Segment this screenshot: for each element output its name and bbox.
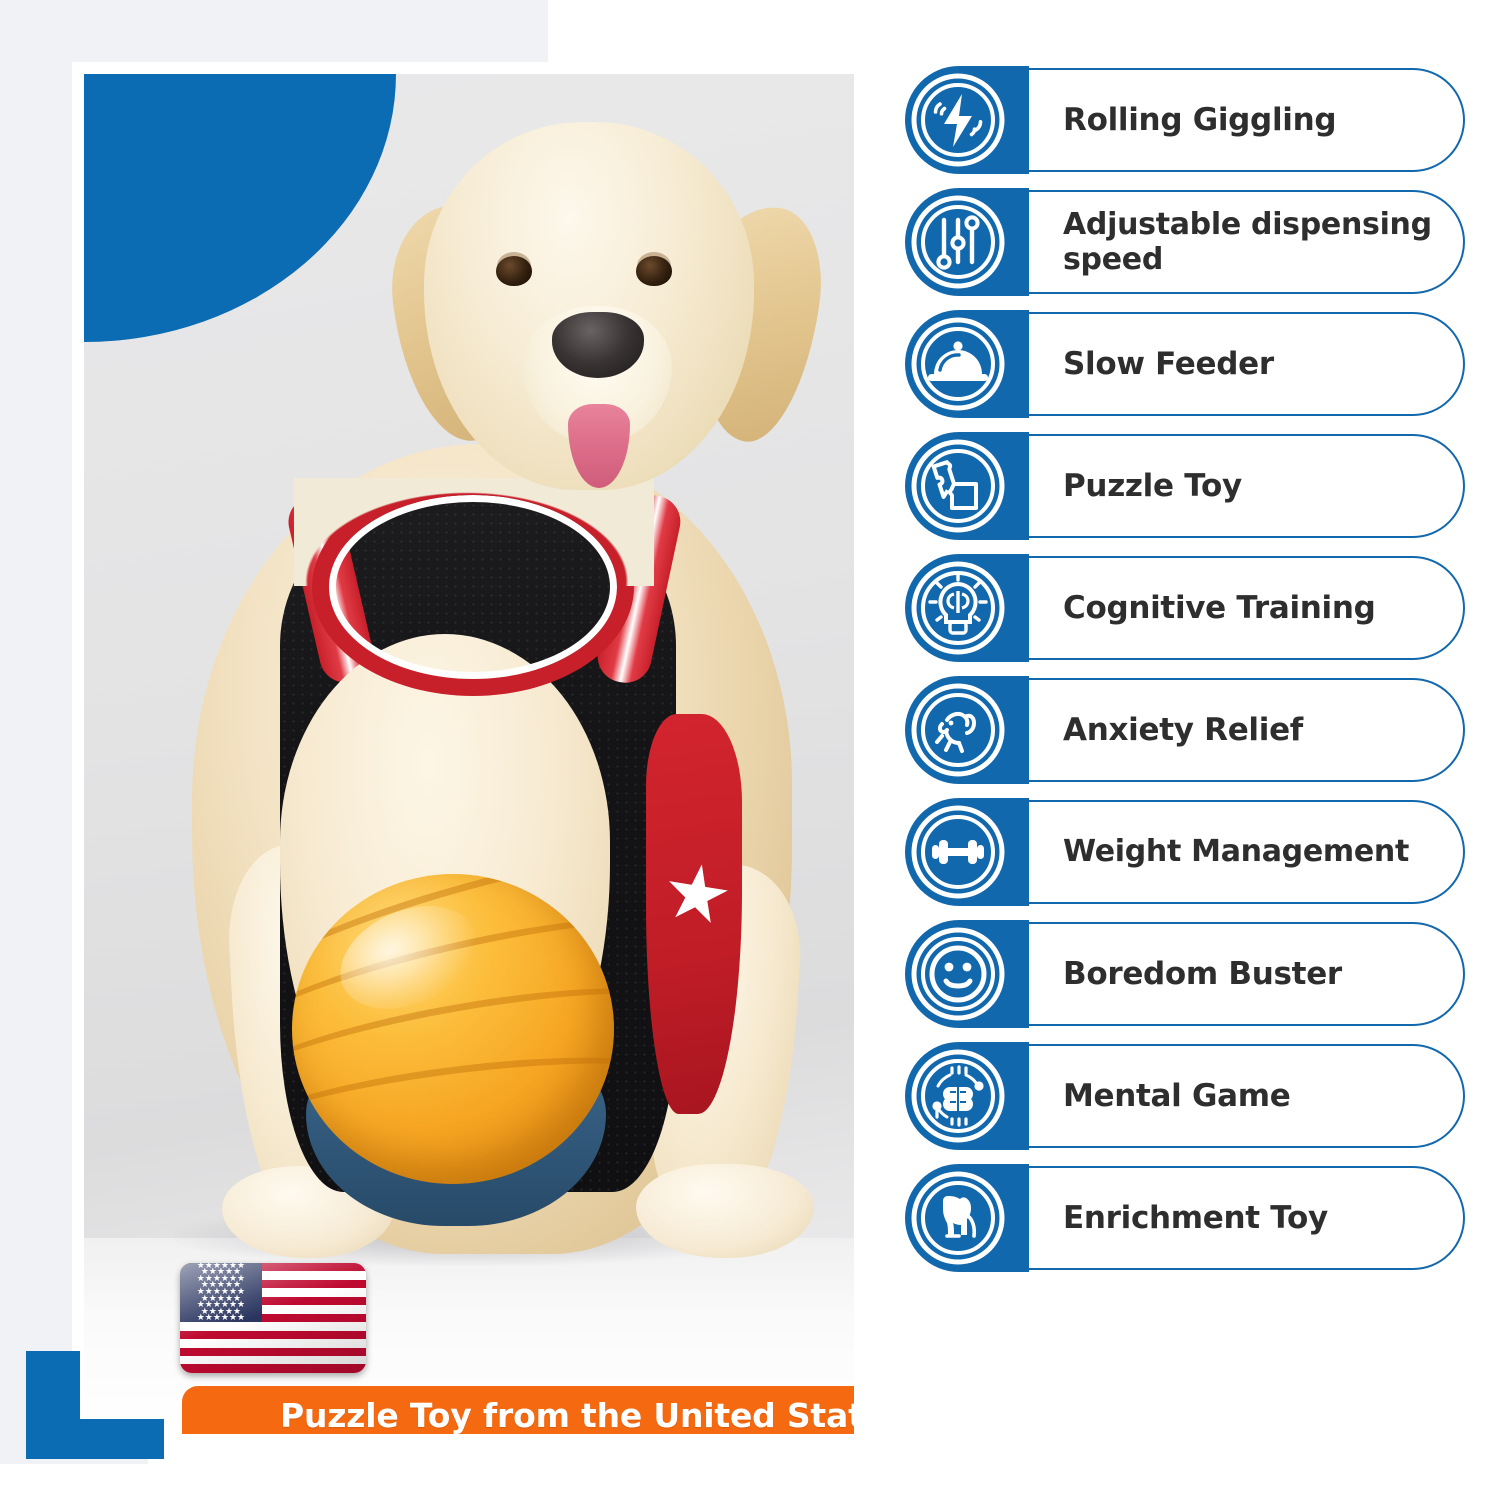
us-flag-badge: ★★★★★★★★★★★ ★★★★★★★★★★★ ★★★★★★★★★★★ ★★★★… [180,1263,366,1373]
feature-icon-badge [905,66,1029,174]
dog-illustration [84,74,854,1434]
us-patent-banner-text: Puzzle Toy from the United States, an Am… [280,1398,854,1434]
running-dog-icon [906,678,1010,782]
brain-network-icon [906,1044,1010,1148]
blue-corner-horizontal [26,1419,164,1459]
feature-row-adjustable-dispensing-speed[interactable]: Adjustable dispensing speed [905,188,1465,296]
blue-corner-accent [26,1351,164,1459]
feature-label: Adjustable dispensing speed [1029,188,1465,296]
food-cloche-icon [906,312,1010,416]
feature-label: Enrichment Toy [1029,1164,1465,1272]
sliders-icon [906,190,1010,294]
treat-ball-orange-shell [292,874,614,1184]
feature-label: Boredom Buster [1029,920,1465,1028]
sitting-dog-icon [906,1166,1010,1270]
feature-row-weight-management[interactable]: Weight Management [905,798,1465,906]
feature-label: Slow Feeder [1029,310,1465,418]
feature-label: Anxiety Relief [1029,676,1465,784]
feature-icon-badge [905,1042,1029,1150]
feature-icon-badge [905,676,1029,784]
feature-row-mental-game[interactable]: Mental Game [905,1042,1465,1150]
jersey-collar-fill [294,478,654,586]
dumbbell-icon [906,800,1010,904]
product-photo: ★★★★★★★★★★★ ★★★★★★★★★★★ ★★★★★★★★★★★ ★★★★… [84,74,854,1434]
us-patent-banner: Puzzle Toy from the United States, an Am… [182,1386,854,1434]
feature-row-boredom-buster[interactable]: Boredom Buster [905,920,1465,1028]
feature-icon-badge [905,310,1029,418]
feature-label: Cognitive Training [1029,554,1465,662]
feature-icon-badge [905,798,1029,906]
treat-ball-product [292,874,622,1226]
puzzle-piece-icon [906,434,1010,538]
feature-list: Rolling Giggling Adjustable dis [905,66,1465,1272]
dog-eye-right [636,256,672,286]
feature-icon-badge [905,188,1029,296]
infographic-canvas: ★★★★★★★★★★★ ★★★★★★★★★★★ ★★★★★★★★★★★ ★★★★… [0,0,1500,1500]
background-strip-bottom [0,1464,1500,1500]
dog-eye-left [496,256,532,286]
feature-label: Rolling Giggling [1029,66,1465,174]
feature-row-puzzle-toy[interactable]: Puzzle Toy [905,432,1465,540]
jersey-red-side-panel [646,714,742,1114]
feature-icon-badge [905,554,1029,662]
feature-icon-badge [905,432,1029,540]
feature-row-rolling-giggling[interactable]: Rolling Giggling [905,66,1465,174]
feature-row-anxiety-relief[interactable]: Anxiety Relief [905,676,1465,784]
feature-label: Puzzle Toy [1029,432,1465,540]
flag-canton: ★★★★★★★★★★★ ★★★★★★★★★★★ ★★★★★★★★★★★ ★★★★… [180,1263,262,1322]
feature-row-enrichment-toy[interactable]: Enrichment Toy [905,1164,1465,1272]
feature-icon-badge [905,1164,1029,1272]
feature-icon-badge [905,920,1029,1028]
product-photo-card: ★★★★★★★★★★★ ★★★★★★★★★★★ ★★★★★★★★★★★ ★★★★… [72,62,866,1446]
feature-row-slow-feeder[interactable]: Slow Feeder [905,310,1465,418]
feature-label: Weight Management [1029,798,1465,906]
feature-label: Mental Game [1029,1042,1465,1150]
smiley-face-icon [906,922,1010,1026]
speaker-icon [206,1426,262,1435]
dog-paw-right [636,1164,814,1258]
feature-row-cognitive-training[interactable]: Cognitive Training [905,554,1465,662]
lightbulb-brain-icon [906,556,1010,660]
rolling-sound-icon [906,68,1010,172]
